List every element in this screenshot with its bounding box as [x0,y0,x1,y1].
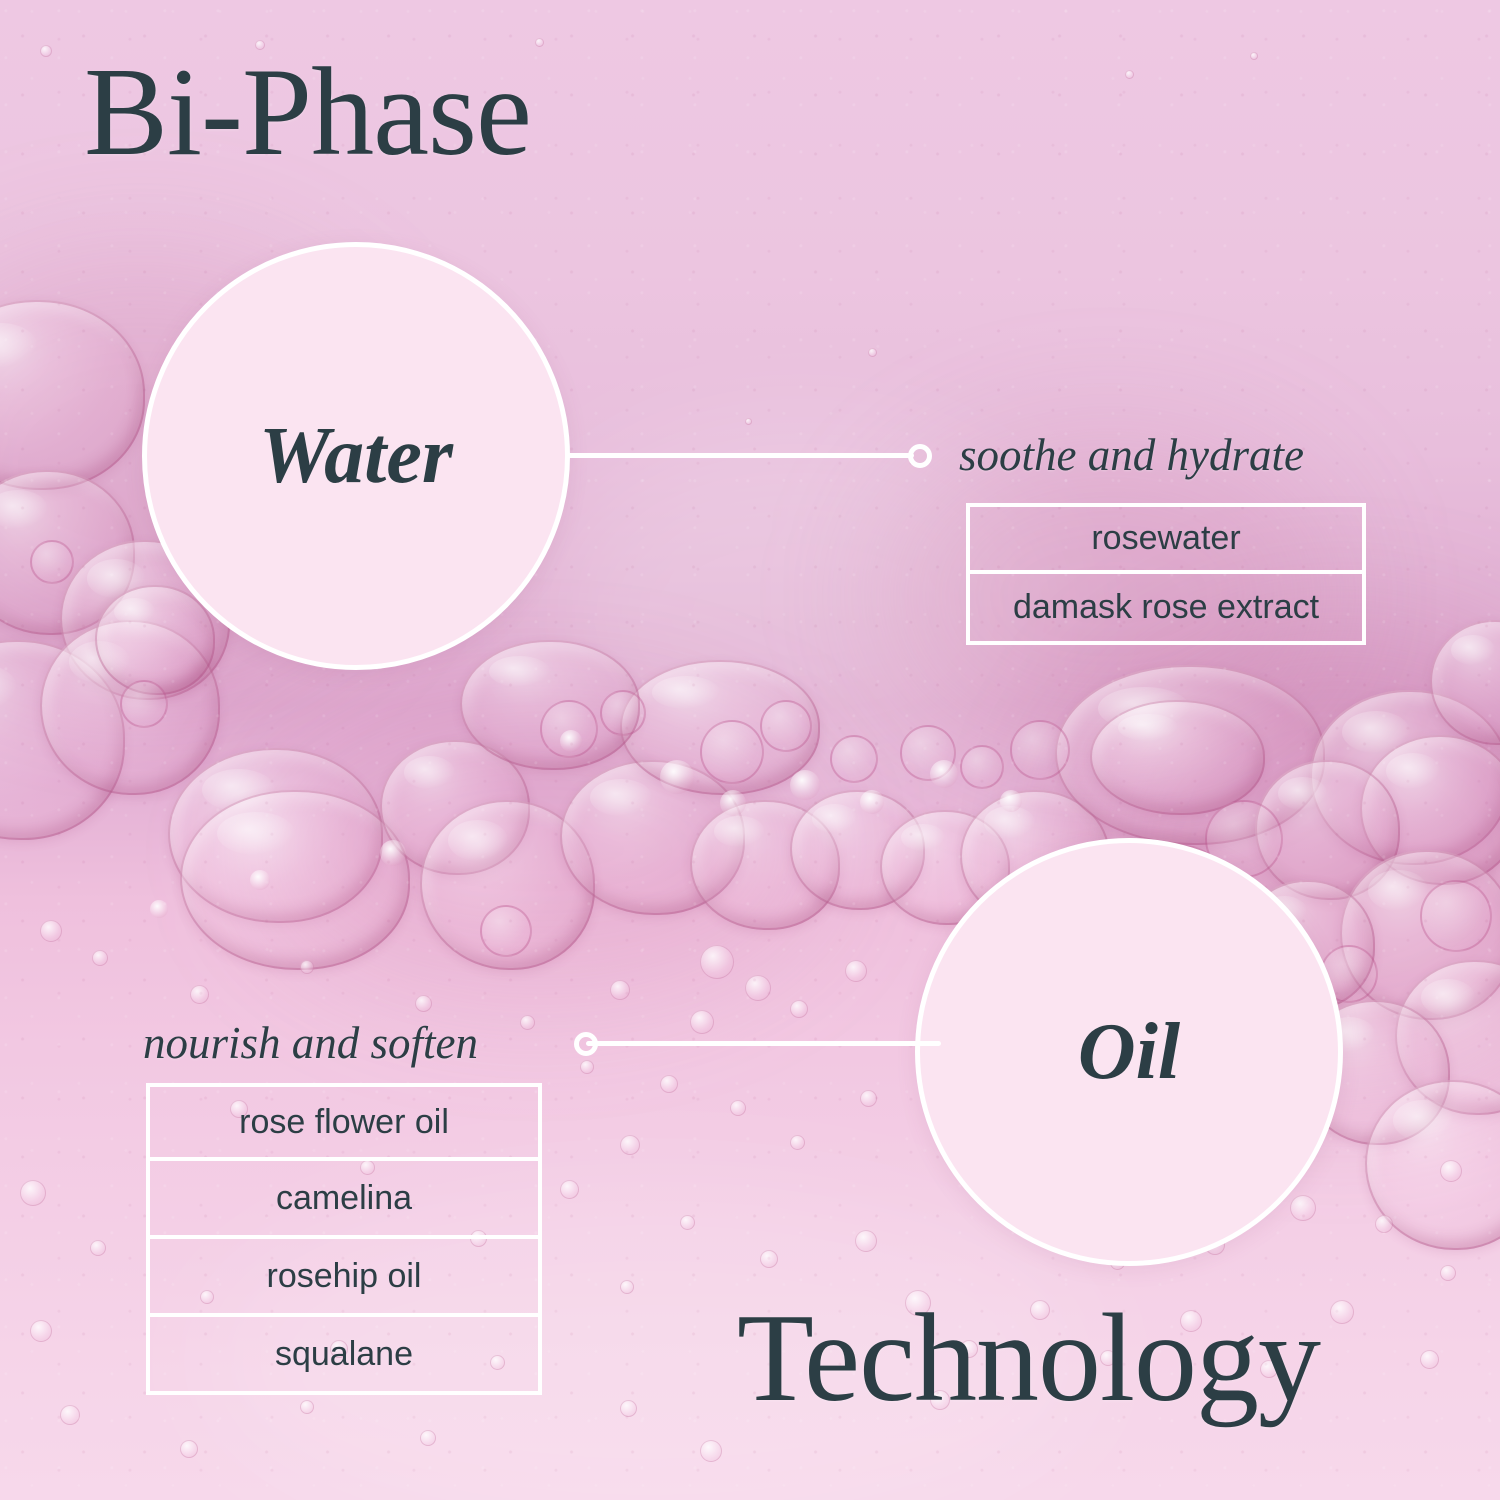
connector-line-water [566,453,914,458]
infographic-overlay: Bi-Phase Technology Water soothe and hyd… [0,0,1500,1500]
page-title-bottom: Technology [737,1296,1320,1422]
ingredient-item: rosewater [966,503,1366,574]
ingredient-item: camelina [146,1161,542,1239]
page-title-top: Bi-Phase [84,50,531,176]
ingredient-stack-oil: rose flower oil camelina rosehip oil squ… [146,1083,542,1395]
phase-circle-water: Water [142,242,570,670]
ingredient-item: squalane [146,1317,542,1395]
ingredient-item: rose flower oil [146,1083,542,1161]
connector-node-icon-oil [574,1032,598,1056]
phase-circle-oil: Oil [915,838,1343,1266]
ingredient-item: damask rose extract [966,574,1366,645]
benefit-caption-oil: nourish and soften [143,1017,478,1069]
benefit-caption-water: soothe and hydrate [959,429,1304,481]
ingredient-stack-water: rosewater damask rose extract [966,503,1366,645]
phase-circle-water-label: Water [259,416,453,496]
ingredient-item: rosehip oil [146,1239,542,1317]
connector-line-oil [586,1041,941,1046]
connector-node-icon-water [908,444,932,468]
phase-circle-oil-label: Oil [1078,1012,1180,1092]
